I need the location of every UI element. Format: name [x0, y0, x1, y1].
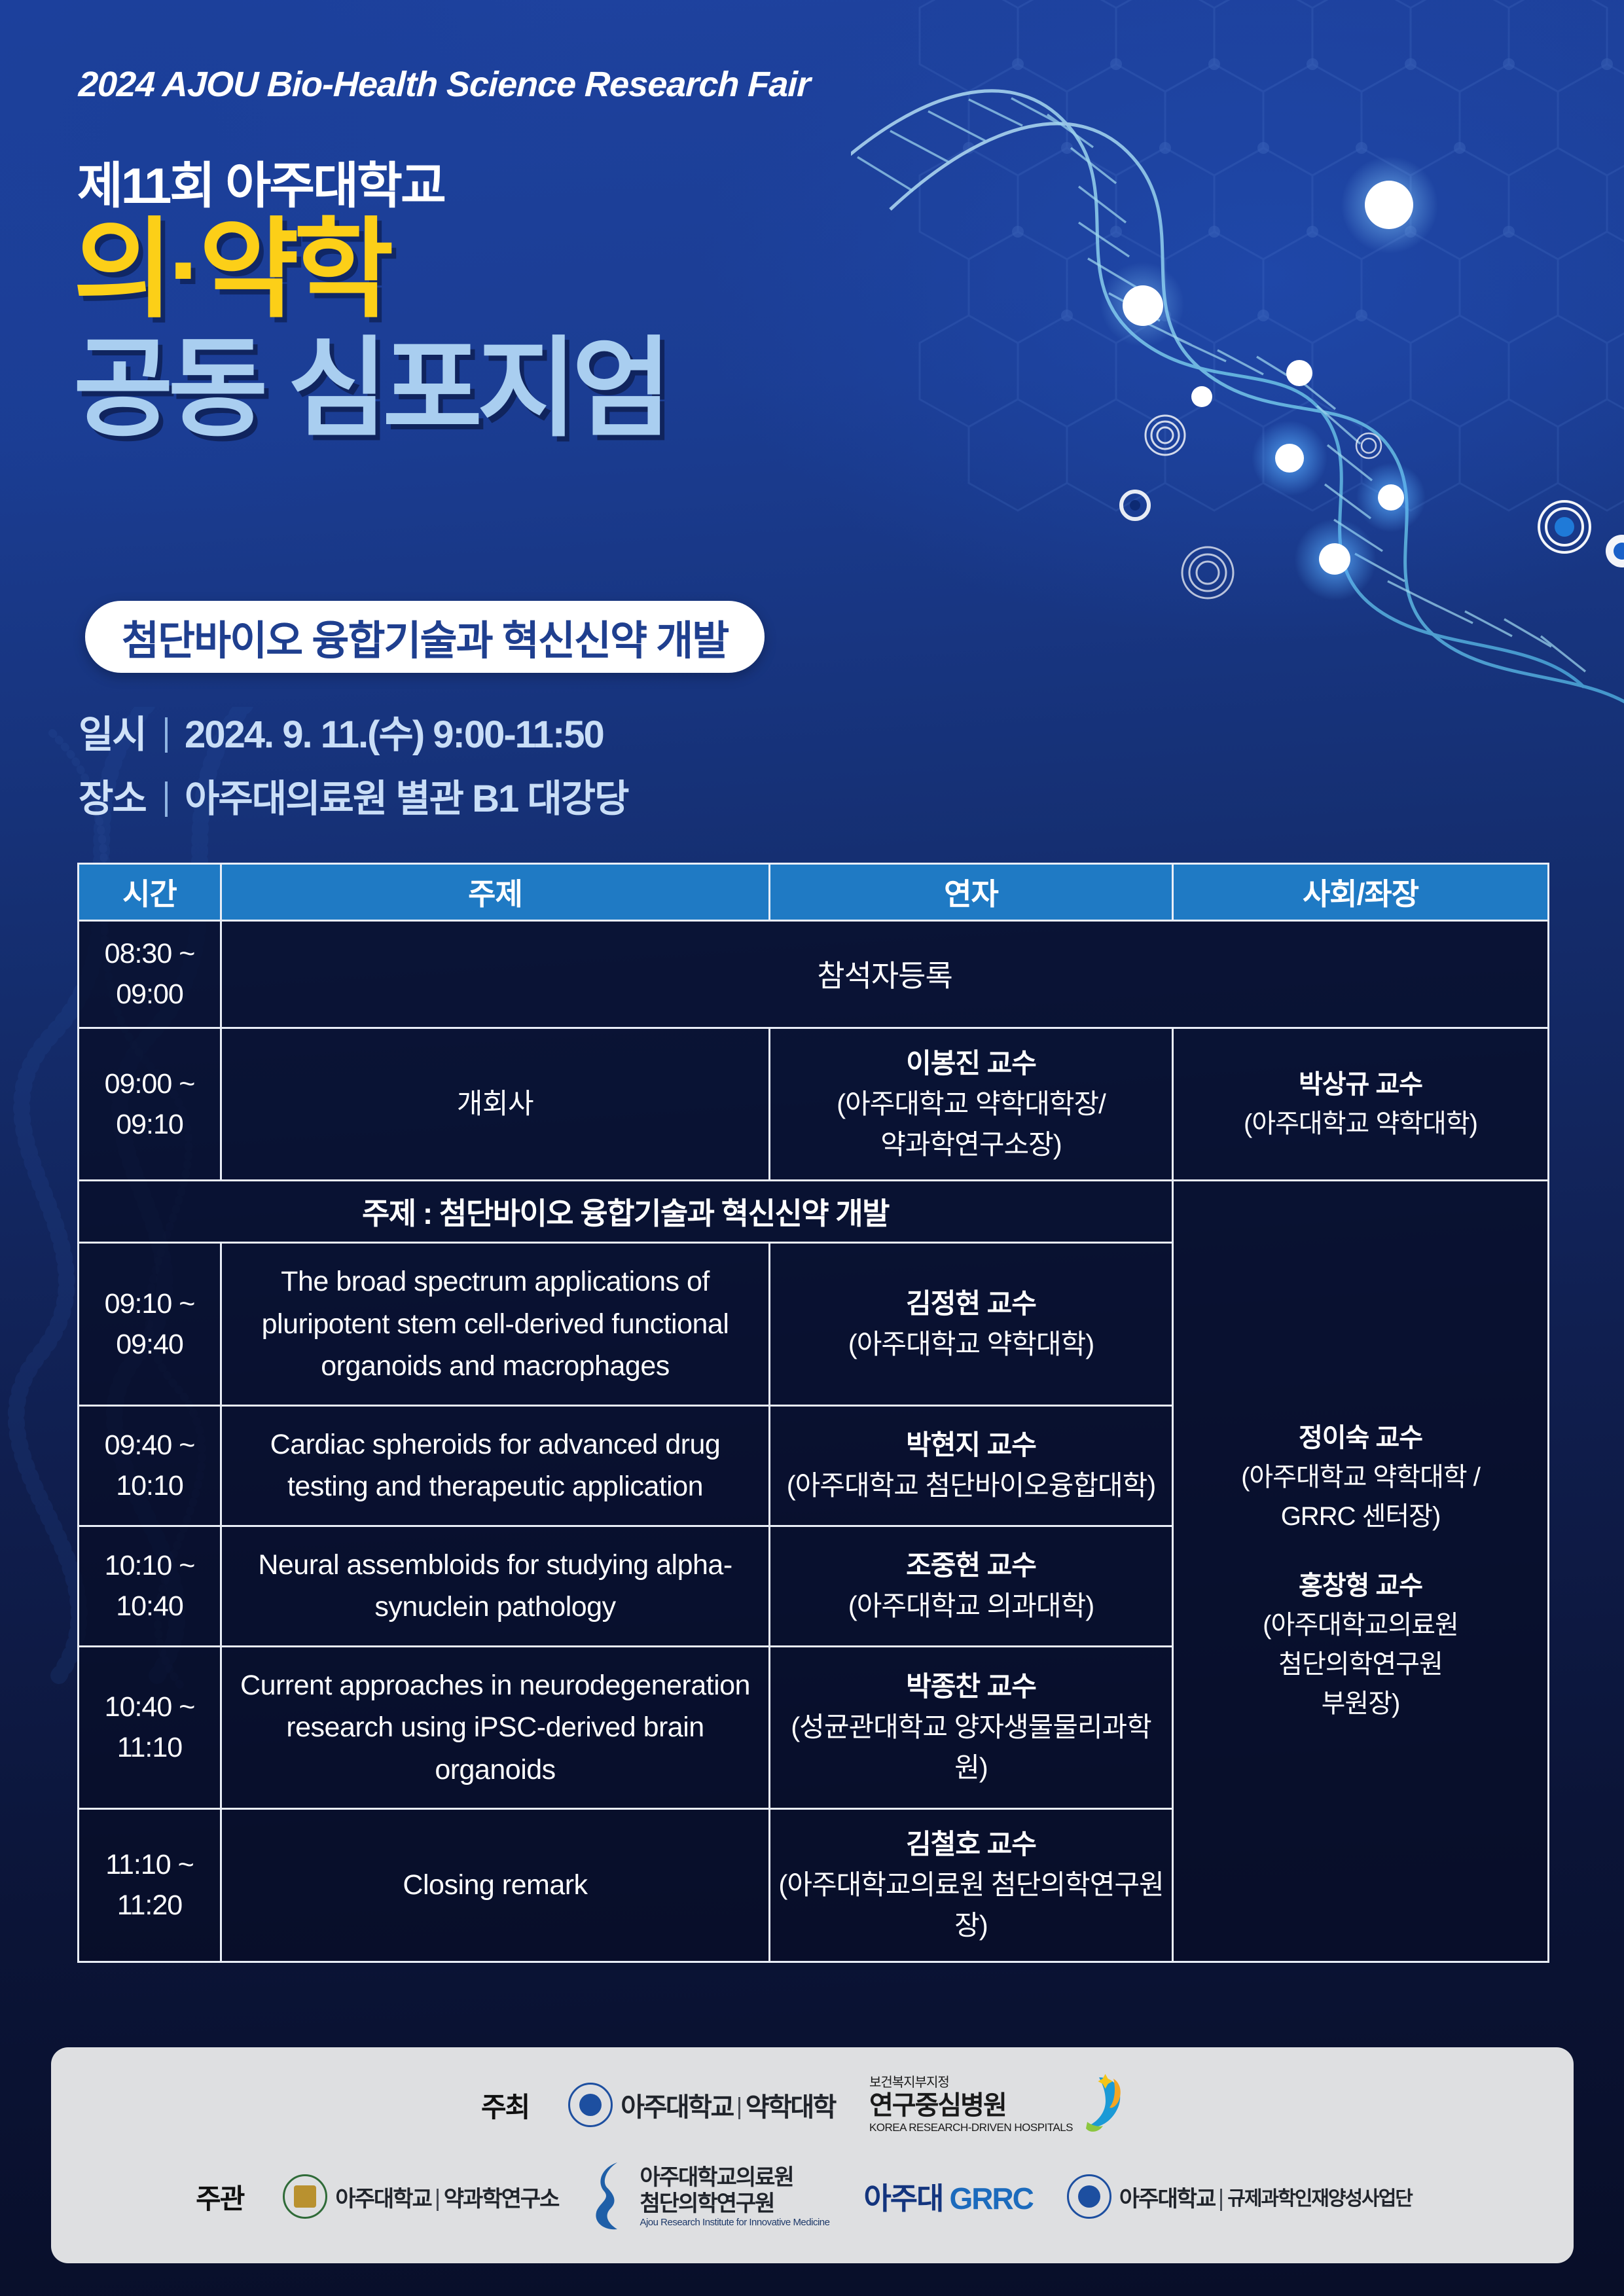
- logo-main-text: 아주대학교: [621, 2086, 733, 2124]
- poster-root: 2024 AJOU Bio-Health Science Research Fa…: [0, 0, 1624, 2296]
- event-meta: 일시 2024. 9. 11.(수) 9:00-11:50 장소 아주대의료원 …: [79, 704, 628, 832]
- logo-main-text: 아주대학교: [335, 2181, 431, 2213]
- ring-marker-icon: [1142, 412, 1188, 458]
- chair-affiliation: (아주대학교의료원 첨단의학연구원 부원장): [1180, 1605, 1541, 1723]
- row-topic: Neural assembloids for studying alpha-sy…: [221, 1526, 770, 1646]
- node-dot-icon: [1123, 285, 1163, 326]
- ring-marker-icon: [1354, 431, 1384, 461]
- speaker-affiliation: (아주대학교 약학대학장/ 약과학연구소장): [778, 1084, 1164, 1165]
- speaker-name: 김정현 교수: [778, 1283, 1164, 1324]
- logo-divider-icon: [738, 2097, 740, 2119]
- date-label: 일시: [79, 704, 165, 759]
- hexagon-grid-icon: [903, 0, 1624, 550]
- session-banner-label: 주제 : 첨단바이오 융합기술과 혁신신약 개발: [79, 1181, 1173, 1243]
- logo-divider-icon: [437, 2189, 439, 2211]
- logo-line1-text: 아주대학교의료원: [640, 2164, 829, 2191]
- logo-sub-text: 약과학연구소: [444, 2181, 559, 2213]
- column-header-speaker: 연자: [770, 864, 1173, 921]
- row-chair: 박상규 교수 (아주대학교 약학대학): [1173, 1028, 1549, 1180]
- row-topic: Closing remark: [221, 1809, 770, 1962]
- speaker-affiliation: (성균관대학교 양자생물물리과학원): [778, 1707, 1164, 1788]
- speaker-name: 박종찬 교수: [778, 1666, 1164, 1707]
- node-dot-icon: [1365, 181, 1413, 229]
- logo-main-text: 아주대학교: [1119, 2181, 1215, 2213]
- row-time: 09:00 ~ 09:10: [79, 1028, 221, 1180]
- chair-name: 홍창형 교수: [1180, 1566, 1541, 1605]
- row-time: 10:40 ~ 11:10: [79, 1646, 221, 1809]
- chair-name: 정이숙 교수: [1180, 1418, 1541, 1458]
- chair-affiliation: (아주대학교 약학대학 / GRRC 센터장): [1180, 1458, 1541, 1536]
- speaker-name: 조중현 교수: [778, 1545, 1164, 1586]
- session-banner-row: 주제 : 첨단바이오 융합기술과 혁신신약 개발 정이숙 교수 (아주대학교 약…: [79, 1181, 1549, 1243]
- speaker-name: 김철호 교수: [778, 1824, 1164, 1865]
- ring-marker-icon: [1117, 488, 1153, 523]
- speaker-affiliation: (아주대학교 의과대학): [778, 1586, 1164, 1626]
- organizer-label: 주관: [196, 2177, 244, 2217]
- session-chair-cell: 정이숙 교수 (아주대학교 약학대학 / GRRC 센터장) 홍창형 교수 (아…: [1173, 1181, 1549, 1962]
- ring-marker-icon: [1535, 497, 1594, 556]
- row-topic: Cardiac spheroids for advanced drug test…: [221, 1405, 770, 1526]
- event-place-row: 장소 아주대의료원 별관 B1 대강당: [79, 768, 628, 823]
- glow-halo-icon: [1293, 517, 1378, 602]
- theme-pill-label: 첨단바이오 융합기술과 혁신신약 개발: [122, 607, 728, 666]
- row-registration-label: 참석자등록: [221, 921, 1549, 1028]
- logo-text-stack: 아주대학교의료원 첨단의학연구원 Ajou Research Institute…: [640, 2164, 829, 2229]
- row-time: 10:10 ~ 10:40: [79, 1526, 221, 1646]
- logo-ajou-grrc: 아주대GRRC: [863, 2175, 1032, 2218]
- glow-halo-icon: [1250, 419, 1329, 497]
- column-header-chair: 사회/좌장: [1173, 864, 1549, 921]
- row-time: 11:10 ~ 11:20: [79, 1809, 221, 1962]
- node-dot-icon: [1286, 360, 1312, 386]
- speaker-name: 박현지 교수: [778, 1425, 1164, 1465]
- speaker-name: 이봉진 교수: [778, 1043, 1164, 1084]
- node-dot-icon: [1319, 543, 1350, 575]
- row-time: 09:40 ~ 10:10: [79, 1405, 221, 1526]
- logo-sub-text: 규제과학인재양성사업단: [1227, 2182, 1412, 2211]
- edition-subtitle: 제11회 아주대학교: [77, 145, 444, 217]
- host-label: 주최: [481, 2085, 529, 2125]
- ajou-seal-icon: [1067, 2174, 1111, 2219]
- node-dot-icon: [1275, 444, 1304, 473]
- dna-helix-icon: [851, 26, 1624, 746]
- theme-pill: 첨단바이오 융합기술과 혁신신약 개발: [85, 601, 765, 673]
- footer-host-row: 주최 아주대학교 약학대학 보건복지부지정 연구중심병원 KOREA RESEA…: [51, 2062, 1574, 2148]
- speaker-affiliation: (아주대학교 첨단바이오융합대학): [778, 1465, 1164, 1506]
- row-time: 08:30 ~ 09:00: [79, 921, 221, 1028]
- logo-main-text: 연구중심병원: [869, 2090, 1073, 2121]
- node-dot-icon: [1378, 484, 1404, 511]
- ring-marker-icon: [1602, 531, 1624, 571]
- logo-pharm-research-institute: 아주대학교 약과학연구소: [283, 2174, 558, 2219]
- glow-halo-icon: [1341, 156, 1439, 254]
- row-speaker: 이봉진 교수 (아주대학교 약학대학장/ 약과학연구소장): [770, 1028, 1173, 1180]
- grrc-brand-text: GRRC: [949, 2181, 1032, 2215]
- node-dot-icon: [1191, 386, 1212, 407]
- logo-divider-icon: [1220, 2189, 1222, 2211]
- meta-divider: [165, 717, 168, 753]
- table-row: 09:00 ~ 09:10 개회사 이봉진 교수 (아주대학교 약학대학장/ 약…: [79, 1028, 1549, 1180]
- grrc-wordmark-icon: 아주대GRRC: [863, 2175, 1032, 2218]
- row-topic: The broad spectrum applications of pluri…: [221, 1243, 770, 1406]
- logo-line3-text: Ajou Research Institute for Innovative M…: [640, 2217, 829, 2229]
- grrc-prefix-text: 아주대: [863, 2181, 943, 2215]
- row-speaker: 박종찬 교수 (성균관대학교 양자생물물리과학원): [770, 1646, 1173, 1809]
- fair-eyebrow-title: 2024 AJOU Bio-Health Science Research Fa…: [78, 64, 811, 105]
- logo-top-text: 보건복지부지정: [869, 2075, 1073, 2091]
- chair-spacer: [1180, 1536, 1541, 1566]
- footer-panel: 주최 아주대학교 약학대학 보건복지부지정 연구중심병원 KOREA RESEA…: [51, 2047, 1574, 2263]
- logo-research-driven-hospital: 보건복지부지정 연구중심병원 KOREA RESEARCH-DRIVEN HOS…: [869, 2073, 1127, 2136]
- logo-regulatory-science-program: 아주대학교 규제과학인재양성사업단: [1067, 2174, 1412, 2219]
- logo-bottom-text: KOREA RESEARCH-DRIVEN HOSPITALS: [869, 2121, 1073, 2134]
- table-row: 08:30 ~ 09:00 참석자등록: [79, 921, 1549, 1028]
- row-speaker: 조중현 교수 (아주대학교 의과대학): [770, 1526, 1173, 1646]
- table-header-row: 시간 주제 연자 사회/좌장: [79, 864, 1549, 921]
- logo-sub-text: 약학대학: [746, 2086, 835, 2124]
- place-label: 장소: [79, 768, 165, 823]
- glow-halo-icon: [1100, 262, 1185, 347]
- chair-affiliation: (아주대학교 약학대학): [1180, 1104, 1541, 1143]
- arim-mark-icon: [592, 2160, 630, 2233]
- logo-ajou-pharmacy-college: 아주대학교 약학대학: [568, 2083, 835, 2127]
- chair-name: 박상규 교수: [1180, 1065, 1541, 1104]
- place-value: 아주대의료원 별관 B1 대강당: [185, 768, 628, 823]
- column-header-time: 시간: [79, 864, 221, 921]
- row-topic: 개회사: [221, 1028, 770, 1180]
- meta-divider: [165, 781, 168, 817]
- event-date-row: 일시 2024. 9. 11.(수) 9:00-11:50: [79, 704, 628, 759]
- speaker-affiliation: (아주대학교의료원 첨단의학연구원장): [778, 1865, 1164, 1946]
- speaker-affiliation: (아주대학교 약학대학): [778, 1324, 1164, 1365]
- main-title-line2: 공동 심포지엄: [73, 335, 666, 444]
- row-speaker: 김철호 교수 (아주대학교의료원 첨단의학연구원장): [770, 1809, 1173, 1962]
- row-speaker: 김정현 교수 (아주대학교 약학대학): [770, 1243, 1173, 1406]
- schedule-table: 시간 주제 연자 사회/좌장 08:30 ~ 09:00 참석자등록 09:00…: [77, 863, 1549, 1963]
- row-speaker: 박현지 교수 (아주대학교 첨단바이오융합대학): [770, 1405, 1173, 1526]
- institute-seal-icon: [283, 2174, 327, 2219]
- glow-halo-icon: [1355, 461, 1427, 533]
- logo-text-stack: 보건복지부지정 연구중심병원 KOREA RESEARCH-DRIVEN HOS…: [869, 2075, 1073, 2135]
- ring-marker-icon: [1178, 543, 1237, 602]
- footer-organizer-row: 주관 아주대학교 약과학연구소 아주대학교의료원 첨단의학연구원 Ajou Re…: [51, 2151, 1574, 2242]
- ajou-seal-icon: [568, 2083, 613, 2127]
- row-topic: Current approaches in neurodegeneration …: [221, 1646, 770, 1809]
- column-header-topic: 주제: [221, 864, 770, 921]
- date-value: 2024. 9. 11.(수) 9:00-11:50: [185, 704, 604, 759]
- logo-ajou-innovative-medicine: 아주대학교의료원 첨단의학연구원 Ajou Research Institute…: [592, 2160, 829, 2233]
- hospital-swoosh-icon: [1079, 2073, 1127, 2136]
- logo-line2-text: 첨단의학연구원: [640, 2191, 829, 2217]
- main-title-line1: 의·약학: [73, 216, 388, 325]
- row-time: 09:10 ~ 09:40: [79, 1243, 221, 1406]
